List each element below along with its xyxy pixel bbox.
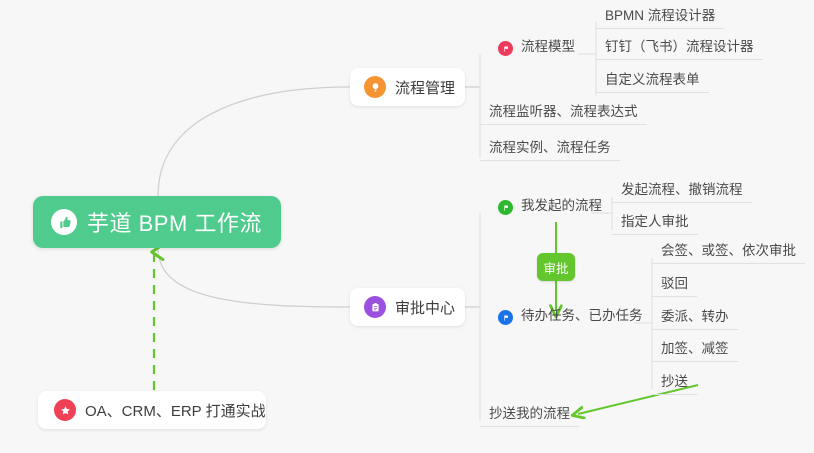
node-assignee-approval-label: 指定人审批 [621, 214, 689, 230]
node-liucheng-moxing-label: 流程模型 [521, 39, 575, 55]
lightbulb-icon [364, 76, 386, 98]
node-reject-label: 驳回 [661, 276, 688, 292]
node-listener-expression-label: 流程监听器、流程表达式 [489, 104, 638, 120]
node-instance-task[interactable]: 流程实例、流程任务 [480, 140, 620, 161]
root-label: 芋道 BPM 工作流 [87, 206, 262, 238]
node-liucheng-moxing[interactable]: 流程模型 [489, 39, 584, 59]
wire-root-to-shenpi [158, 248, 350, 307]
node-start-cancel-process-label: 发起流程、撤销流程 [621, 182, 743, 198]
branch-liucheng-guanli[interactable]: 流程管理 [350, 68, 465, 106]
branch-shenpi-zhongxin[interactable]: 审批中心 [350, 288, 465, 326]
node-cc-to-me[interactable]: 抄送我的流程 [480, 406, 579, 427]
flag-icon [498, 200, 513, 215]
node-reject[interactable]: 驳回 [652, 276, 697, 297]
node-my-initiated-label: 我发起的流程 [521, 198, 602, 214]
node-cc-to-me-label: 抄送我的流程 [489, 406, 570, 422]
node-start-cancel-process[interactable]: 发起流程、撤销流程 [612, 182, 752, 203]
branch-shenpi-zhongxin-label: 审批中心 [395, 297, 455, 318]
integration-note-label: OA、CRM、ERP 打通实战 [85, 400, 266, 421]
node-add-remove-sign-label: 加签、减签 [661, 341, 729, 357]
flag-icon [498, 41, 513, 56]
node-dingtalk-feishu-designer-label: 钉钉（飞书）流程设计器 [605, 39, 754, 55]
node-assignee-approval[interactable]: 指定人审批 [612, 214, 698, 235]
node-my-initiated[interactable]: 我发起的流程 [489, 198, 611, 218]
node-custom-process-form-label: 自定义流程表单 [605, 72, 700, 88]
star-icon [54, 399, 76, 421]
node-countersign-label: 会签、或签、依次审批 [661, 243, 796, 259]
node-instance-task-label: 流程实例、流程任务 [489, 140, 611, 156]
approval-arrow-label-text: 审批 [543, 258, 568, 277]
node-todo-done-tasks[interactable]: 待办任务、已办任务 [489, 308, 652, 328]
branch-liucheng-guanli-label: 流程管理 [395, 77, 455, 98]
node-bpmn-designer-label: BPMN 流程设计器 [605, 8, 715, 24]
node-countersign[interactable]: 会签、或签、依次审批 [652, 243, 805, 264]
clipboard-icon [364, 296, 386, 318]
approval-arrow-label: 审批 [537, 253, 575, 281]
node-delegate-transfer[interactable]: 委派、转办 [652, 309, 738, 330]
thumbs-up-icon [51, 209, 77, 235]
wire-root-to-liucheng [158, 87, 350, 196]
flag-icon [498, 310, 513, 325]
root-node[interactable]: 芋道 BPM 工作流 [33, 196, 281, 248]
node-bpmn-designer[interactable]: BPMN 流程设计器 [596, 8, 724, 29]
node-add-remove-sign[interactable]: 加签、减签 [652, 341, 738, 362]
node-cc[interactable]: 抄送 [652, 374, 697, 395]
node-delegate-transfer-label: 委派、转办 [661, 309, 729, 325]
mindmap-canvas: 芋道 BPM 工作流 OA、CRM、ERP 打通实战 流程管理 [0, 0, 814, 453]
node-custom-process-form[interactable]: 自定义流程表单 [596, 72, 709, 93]
node-todo-done-tasks-label: 待办任务、已办任务 [521, 308, 643, 324]
node-cc-label: 抄送 [661, 374, 688, 390]
integration-note-node[interactable]: OA、CRM、ERP 打通实战 [38, 391, 266, 429]
node-dingtalk-feishu-designer[interactable]: 钉钉（飞书）流程设计器 [596, 39, 763, 60]
node-listener-expression[interactable]: 流程监听器、流程表达式 [480, 104, 647, 125]
